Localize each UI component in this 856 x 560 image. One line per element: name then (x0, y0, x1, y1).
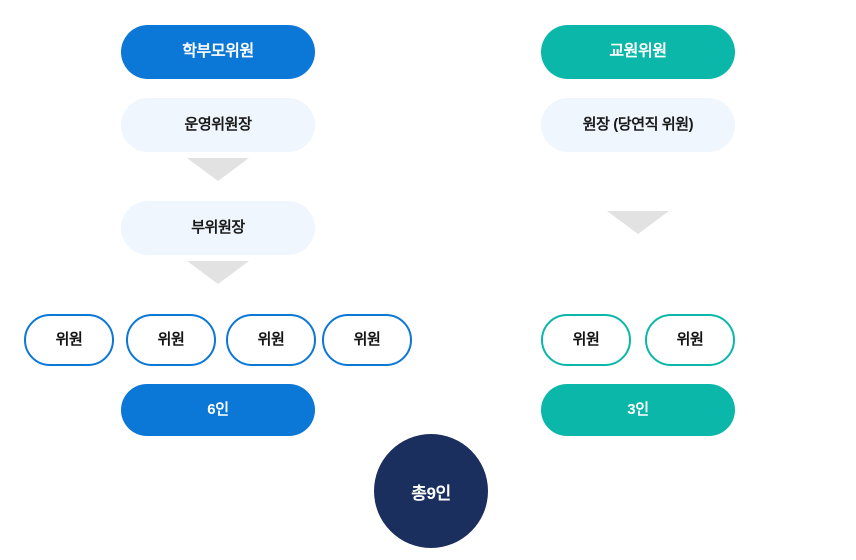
parent-count-badge: 6인 (121, 384, 315, 436)
parent-column-header: 학부모위원 (121, 25, 315, 79)
parent-member-pill: 위원 (322, 314, 412, 366)
teacher-member-pill: 위원 (541, 314, 631, 366)
parent-level-vice-chairperson: 부위원장 (121, 201, 315, 255)
parent-member-pill: 위원 (226, 314, 316, 366)
arrow-down-icon (187, 158, 249, 181)
arrow-down-icon (607, 211, 669, 234)
teacher-count-badge: 3인 (541, 384, 735, 436)
teacher-level-director: 원장 (당연직 위원) (541, 98, 735, 152)
arrow-down-icon (187, 261, 249, 284)
teacher-member-pill: 위원 (645, 314, 735, 366)
total-members-badge: 총9인 (374, 434, 488, 548)
committee-org-diagram: 학부모위원 운영위원장 부위원장 위원 위원 위원 위원 6인 교원위원 원장 … (0, 0, 856, 560)
teacher-column-header: 교원위원 (541, 25, 735, 79)
parent-member-pill: 위원 (126, 314, 216, 366)
parent-member-pill: 위원 (24, 314, 114, 366)
parent-level-chairperson: 운영위원장 (121, 98, 315, 152)
